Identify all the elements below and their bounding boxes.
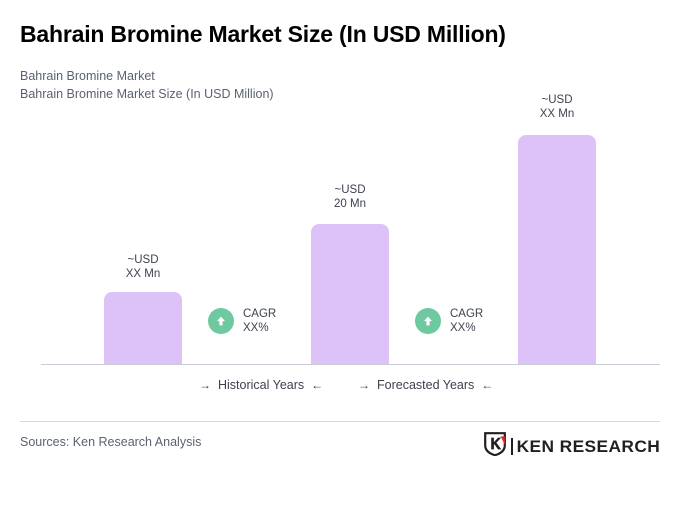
bar-value-label-line2: XX Mn [497, 107, 617, 121]
arrow-left-icon: ← [481, 379, 493, 391]
brand-logo: KEN RESEARCH [484, 432, 659, 461]
cagr-value: XX% [450, 321, 483, 335]
bar-forecasted[interactable] [518, 135, 596, 364]
bar-mid[interactable] [311, 224, 389, 364]
axis-baseline [41, 364, 660, 365]
cagr-badge-historical: CAGR XX% [208, 307, 276, 335]
axis-band-label-forecasted: Forecasted Years [377, 378, 474, 392]
bar-value-label-line2: XX Mn [83, 267, 203, 281]
arrow-up-icon [208, 308, 234, 334]
axis-band-row: → Historical Years ← → Forecasted Years … [0, 376, 700, 400]
footer-divider [20, 421, 660, 422]
bar-historical[interactable] [104, 292, 182, 364]
bar-value-label-line1: ~USD [497, 93, 617, 107]
bar-series [0, 0, 700, 364]
axis-band-forecasted: → Forecasted Years ← [358, 378, 493, 392]
arrow-right-icon: → [199, 379, 211, 391]
axis-band-historical: → Historical Years ← [199, 378, 323, 392]
cagr-value: XX% [243, 321, 276, 335]
brand-wordmark: KEN RESEARCH [517, 438, 661, 455]
shield-k-icon [484, 432, 506, 461]
bar-value-label-line1: ~USD [83, 253, 203, 267]
chart-plot-area: ~USD XX Mn ~USD 20 Mn ~USD XX Mn CAGR XX… [0, 0, 700, 375]
cagr-title: CAGR [450, 307, 483, 321]
bar-value-label-forecasted: ~USD XX Mn [497, 93, 617, 121]
chart-page: Bahrain Bromine Market Size (In USD Mill… [0, 0, 700, 520]
arrow-right-icon: → [358, 379, 370, 391]
sources-text: Sources: Ken Research Analysis [20, 435, 201, 449]
bar-value-label-historical: ~USD XX Mn [83, 253, 203, 281]
bar-value-label-line2: 20 Mn [290, 197, 410, 211]
bar-value-label-line1: ~USD [290, 183, 410, 197]
axis-band-label-historical: Historical Years [218, 378, 304, 392]
cagr-title: CAGR [243, 307, 276, 321]
arrow-up-icon [415, 308, 441, 334]
cagr-label-block: CAGR XX% [243, 307, 276, 335]
cagr-badge-forecasted: CAGR XX% [415, 307, 483, 335]
cagr-label-block: CAGR XX% [450, 307, 483, 335]
logo-divider [511, 438, 513, 455]
bar-value-label-mid: ~USD 20 Mn [290, 183, 410, 211]
arrow-left-icon: ← [311, 379, 323, 391]
